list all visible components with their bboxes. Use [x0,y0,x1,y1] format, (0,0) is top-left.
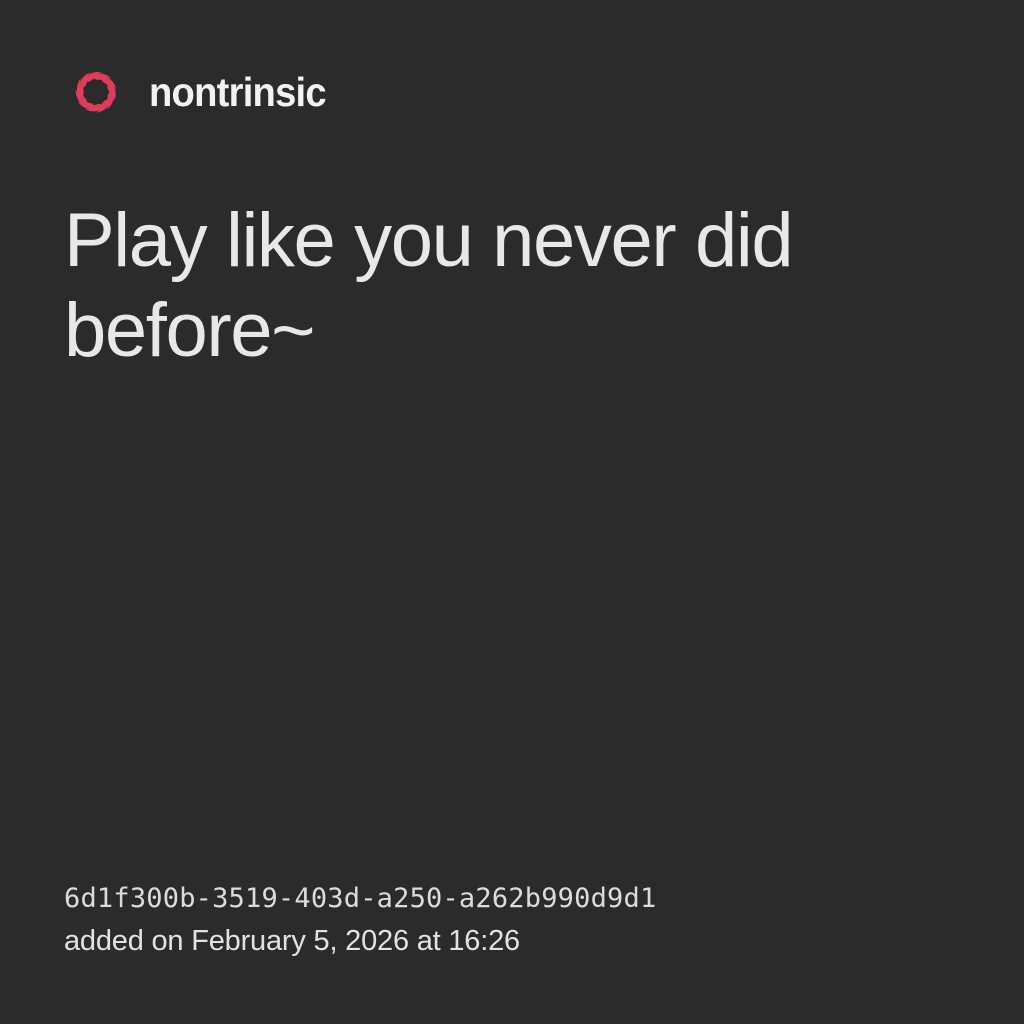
added-timestamp: added on February 5, 2026 at 16:26 [64,920,944,962]
meta-footer: 6d1f300b-3519-403d-a250-a262b990d9d1 add… [64,878,944,962]
brand-name: nontrinsic [149,72,326,113]
quote-card: nontrinsic Play like you never did befor… [0,0,1024,1024]
spiral-petal-logo-icon [64,60,128,124]
page-title: Play like you never did before~ [64,196,864,376]
brand-header: nontrinsic [64,58,339,126]
record-id: 6d1f300b-3519-403d-a250-a262b990d9d1 [64,878,944,920]
